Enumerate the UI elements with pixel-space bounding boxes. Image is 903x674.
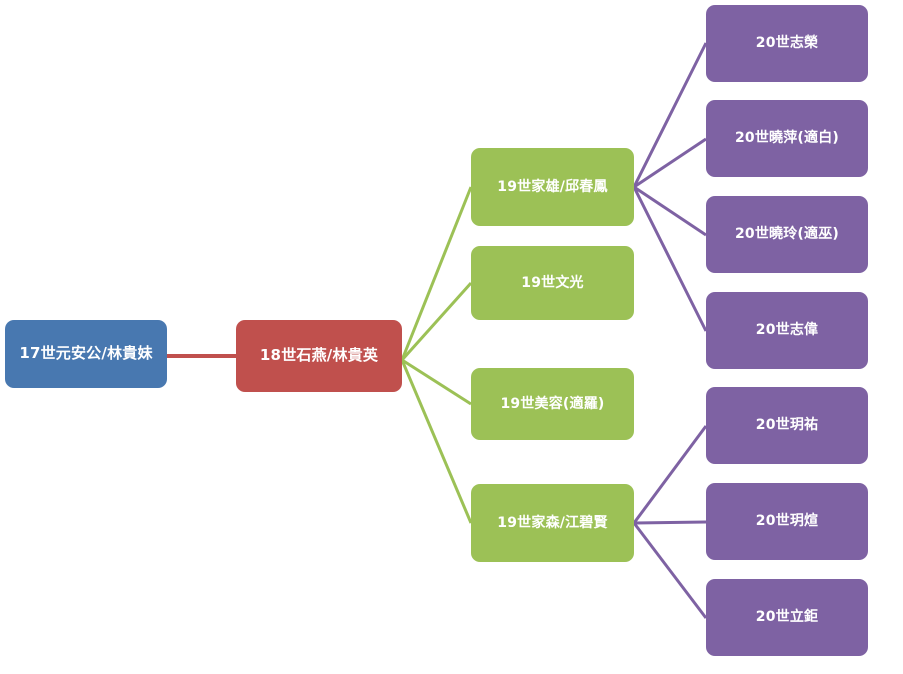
node-n17[interactable]: 17世元安公/林貴妹 <box>5 320 167 388</box>
connector-n19a-to-n20a <box>634 43 706 187</box>
connector-n18-to-n19a <box>402 187 471 360</box>
node-n19b[interactable]: 19世文光 <box>471 246 634 320</box>
connector-n19d-to-n20e <box>634 426 706 523</box>
connector-n19a-to-n20d <box>634 187 706 331</box>
connector-n19d-to-n20g <box>634 523 706 618</box>
node-n20a[interactable]: 20世志榮 <box>706 5 868 82</box>
connector-n18-to-n19d <box>402 360 471 523</box>
node-n20e[interactable]: 20世玥祐 <box>706 387 868 464</box>
node-n20g[interactable]: 20世立鉅 <box>706 579 868 656</box>
node-n20c[interactable]: 20世曉玲(適巫) <box>706 196 868 273</box>
node-n20d[interactable]: 20世志偉 <box>706 292 868 369</box>
connector-n18-to-n19b <box>402 283 471 360</box>
node-n20f[interactable]: 20世玥煊 <box>706 483 868 560</box>
node-n18[interactable]: 18世石燕/林貴英 <box>236 320 402 392</box>
node-n19c[interactable]: 19世美容(適羅) <box>471 368 634 440</box>
connector-n19a-to-n20b <box>634 139 706 187</box>
connector-n18-to-n19c <box>402 360 471 404</box>
node-n19d[interactable]: 19世家森/江碧賢 <box>471 484 634 562</box>
family-tree-diagram: 17世元安公/林貴妹18世石燕/林貴英19世家雄/邱春鳳19世文光19世美容(適… <box>0 0 903 674</box>
node-n19a[interactable]: 19世家雄/邱春鳳 <box>471 148 634 226</box>
connector-n19d-to-n20f <box>634 522 706 523</box>
connector-n19a-to-n20c <box>634 187 706 235</box>
node-n20b[interactable]: 20世曉萍(適白) <box>706 100 868 177</box>
